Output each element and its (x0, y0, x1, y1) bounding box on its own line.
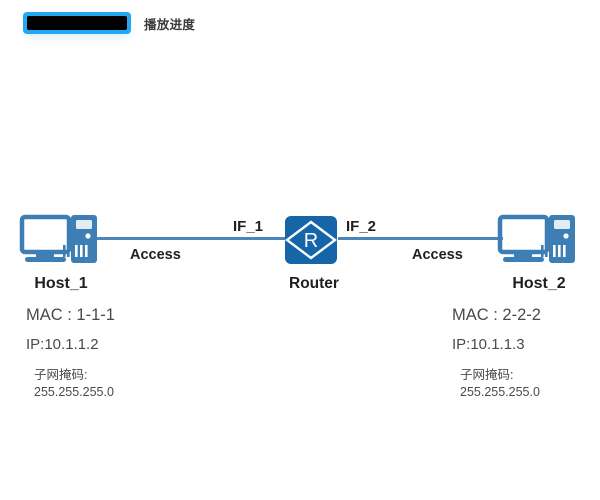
node-host2[interactable]: Host_2 (496, 212, 582, 293)
node-host2-label: Host_2 (496, 275, 582, 293)
host1-ip: IP:10.1.1.2 (26, 336, 115, 353)
host2-details: MAC : 2-2-2 IP:10.1.1.3 子网掩码: 255.255.25… (452, 306, 541, 399)
host1-mac: MAC : 1-1-1 (26, 306, 115, 325)
host1-mask-value: 255.255.255.0 (34, 385, 115, 399)
host2-ip: IP:10.1.1.3 (452, 336, 541, 353)
host2-mask-title: 子网掩码: (460, 364, 541, 383)
link-router-host2 (338, 237, 503, 240)
node-host1-label: Host_1 (18, 275, 104, 293)
link-host1-router (93, 237, 285, 240)
link-mode-label-right: Access (412, 247, 463, 263)
host1-details: MAC : 1-1-1 IP:10.1.1.2 子网掩码: 255.255.25… (26, 306, 115, 399)
interface-label-if1: IF_1 (233, 218, 263, 235)
desktop-computer-icon (496, 212, 582, 273)
router-icon: R (277, 214, 351, 271)
interface-label-if2: IF_2 (346, 218, 376, 235)
host2-mac: MAC : 2-2-2 (452, 306, 541, 325)
desktop-computer-icon (18, 212, 104, 273)
link-mode-label-left: Access (130, 247, 181, 263)
node-router-label: Router (277, 275, 351, 293)
node-host1[interactable]: Host_1 (18, 212, 104, 293)
node-router[interactable]: R Router (277, 214, 351, 293)
host2-mask-value: 255.255.255.0 (460, 385, 541, 399)
svg-text:R: R (304, 230, 318, 252)
host1-mask-title: 子网掩码: (34, 364, 115, 383)
network-topology-diagram: Host_1 R Router (0, 0, 600, 500)
